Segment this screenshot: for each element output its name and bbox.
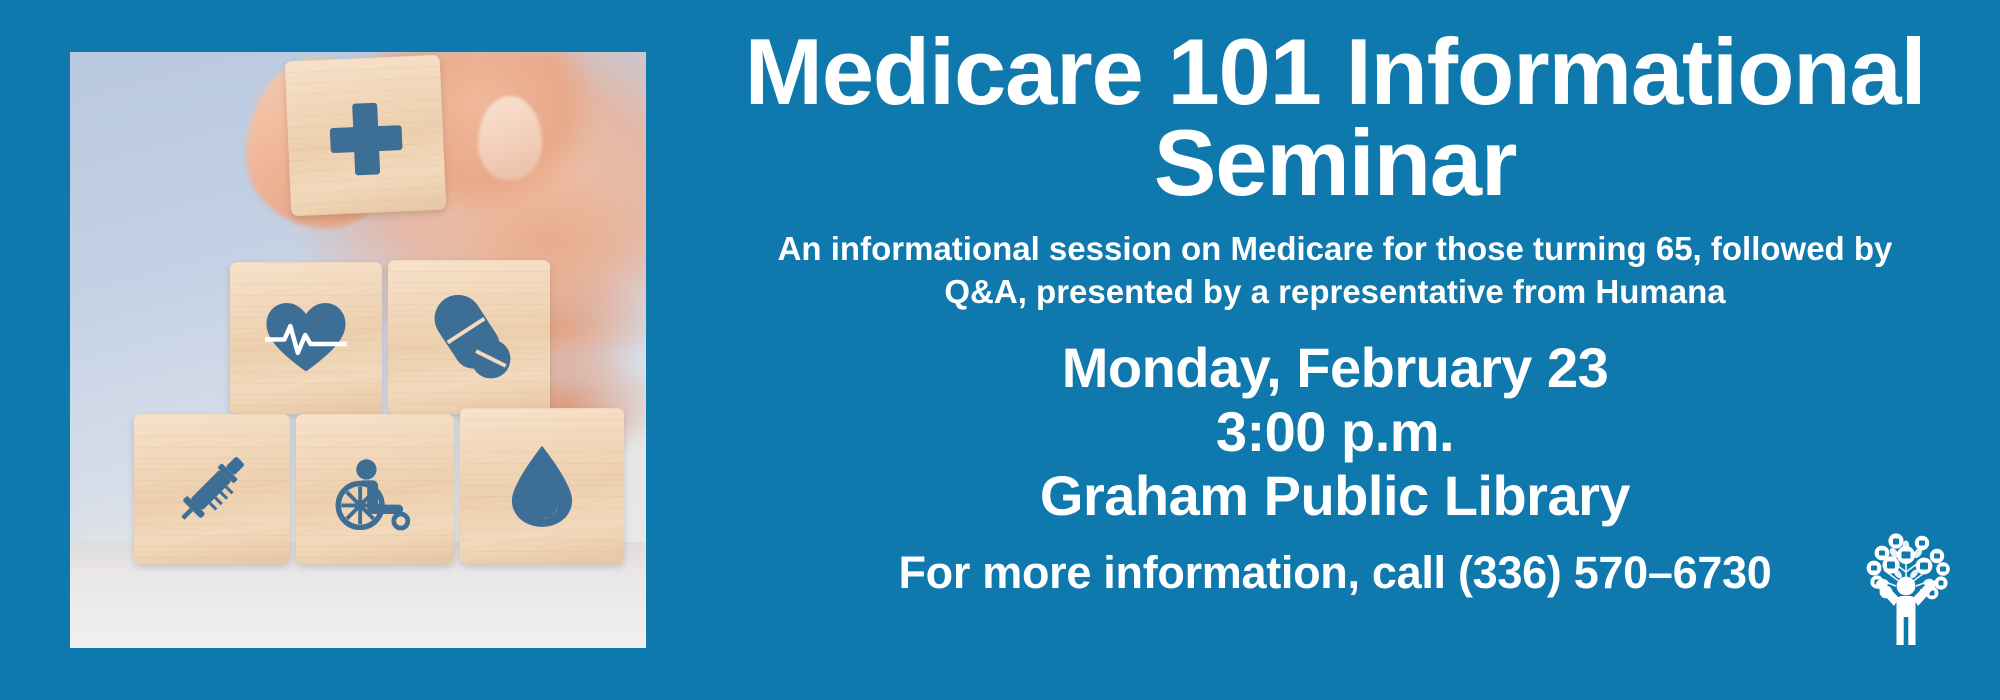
event-description: An informational session on Medicare for… [740,228,1930,314]
block-wheelchair [296,414,454,564]
block-water-drop [460,408,624,564]
event-date: Monday, February 23 [1040,336,1630,400]
healthcare-blocks-photo [70,52,646,648]
block-heart [230,262,382,414]
block-pill [388,260,550,414]
pill-capsule-icon [426,294,512,380]
heart-heartbeat-icon [265,300,347,376]
banner-content: Medicare 101 Informational Seminar An in… [680,0,2000,700]
event-location: Graham Public Library [1040,464,1630,528]
medicare-seminar-banner: Medicare 101 Informational Seminar An in… [0,0,2000,700]
wheelchair-icon [332,446,418,532]
page-title: Medicare 101 Informational Seminar [720,26,1950,208]
water-drop-icon [506,443,578,529]
graham-public-library-tree-logo [1850,520,1962,648]
contact-info: For more information, call (336) 570–673… [898,548,1771,598]
block-syringe [134,414,290,564]
event-time: 3:00 p.m. [1040,400,1630,464]
event-details: Monday, February 23 3:00 p.m. Graham Pub… [1040,336,1630,527]
block-medical-cross [285,55,447,217]
fingernail [478,96,542,180]
syringe-icon [170,447,254,531]
tree-person-logo-icon [1850,520,1962,648]
medical-cross-icon [325,95,406,176]
